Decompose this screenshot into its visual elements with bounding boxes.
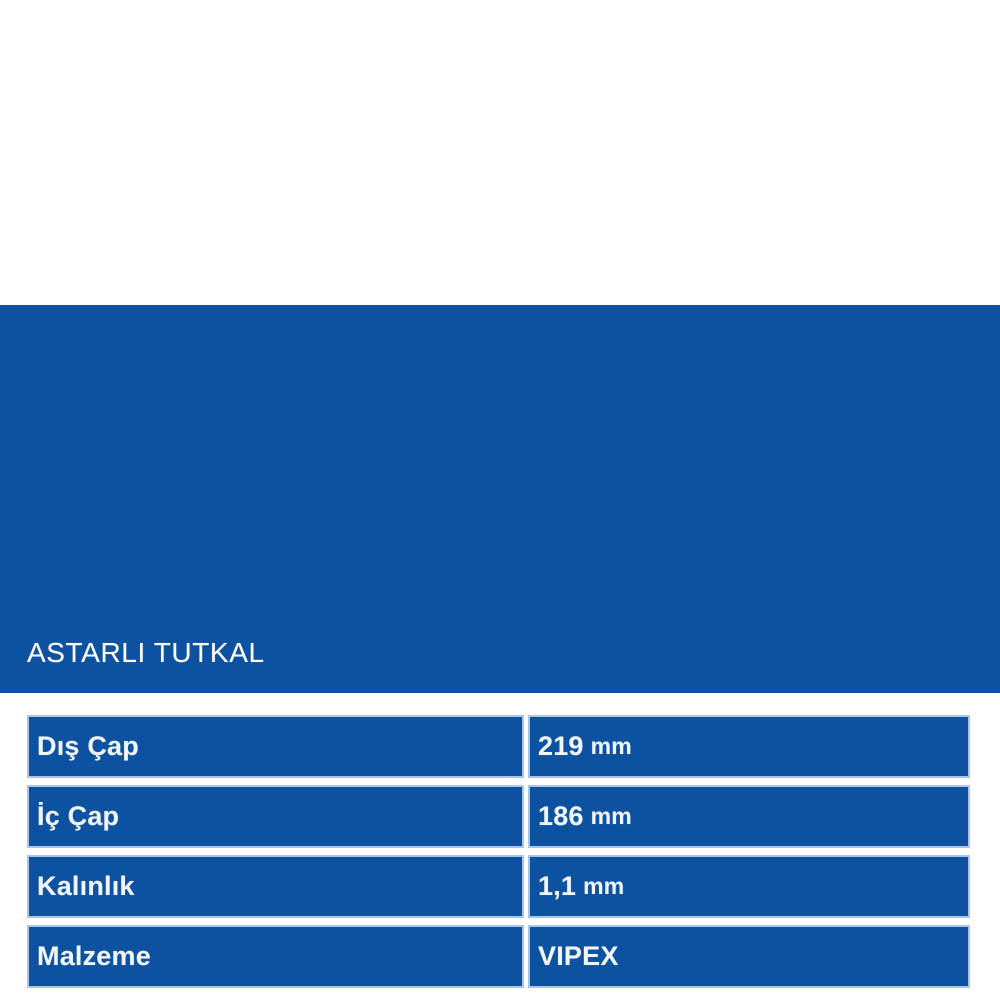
spec-value-number: 186 [538,801,584,832]
spec-value-ic-cap: 186 mm [528,785,970,848]
table-row: Kalınlık 1,1 mm [27,855,970,918]
spec-value-malzeme: VIPEX [528,925,970,988]
spec-label-dis-cap: Dış Çap [27,715,524,778]
spec-value-kalinlik: 1,1 mm [528,855,970,918]
spec-value-unit: mm [591,803,632,830]
table-row: İç Çap 186 mm [27,785,970,848]
table-row: Malzeme VIPEX [27,925,970,988]
spec-label-kalinlik: Kalınlık [27,855,524,918]
spec-value-dis-cap: 219 mm [528,715,970,778]
page-title: ASTARLI TUTKAL [27,636,265,670]
spec-label-ic-cap: İç Çap [27,785,524,848]
spec-value-number: 1,1 [538,871,576,902]
spec-value-unit: mm [583,873,624,900]
spec-value-number: VIPEX [538,941,619,972]
product-spec-page: ASTARLI TUTKAL Dış Çap 219 mm İç Çap 186… [0,0,1000,1000]
spec-panel: ASTARLI TUTKAL Dış Çap 219 mm İç Çap 186… [0,305,1000,693]
spec-value-number: 219 [538,731,584,762]
spec-label-malzeme: Malzeme [27,925,524,988]
spec-table: Dış Çap 219 mm İç Çap 186 mm Kalınlık 1,… [27,715,970,988]
table-row: Dış Çap 219 mm [27,715,970,778]
spec-value-unit: mm [591,733,632,760]
